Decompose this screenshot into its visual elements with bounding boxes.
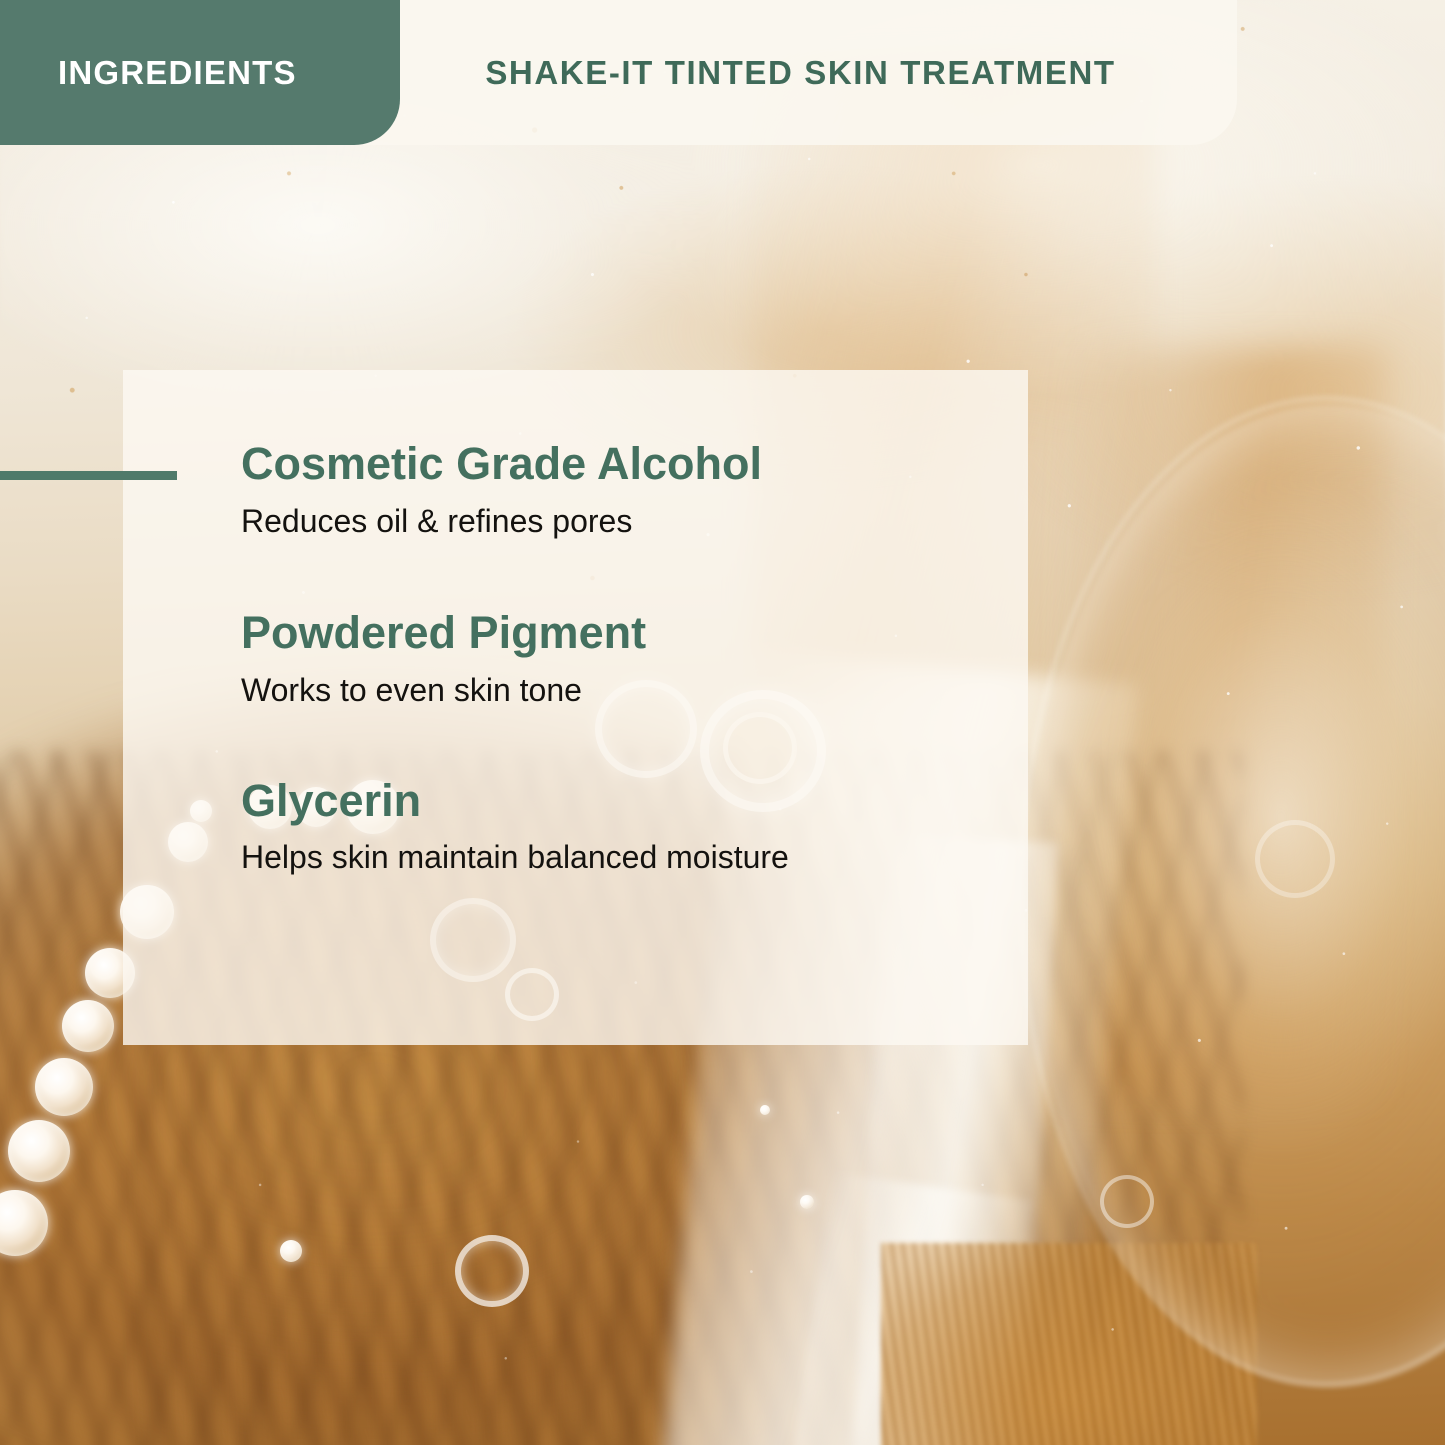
ingredient-name: Cosmetic Grade Alcohol	[241, 440, 941, 489]
header-ingredients-tab: INGREDIENTS	[0, 0, 400, 145]
header-tab-label: INGREDIENTS	[0, 54, 297, 92]
ingredient-benefit: Works to even skin tone	[241, 672, 941, 709]
header-bar: INGREDIENTS SHAKE-IT TINTED SKIN TREATME…	[0, 0, 1237, 145]
ingredient-name: Glycerin	[241, 777, 941, 826]
list-spacer	[241, 539, 941, 609]
header-product-title: SHAKE-IT TINTED SKIN TREATMENT	[400, 0, 1237, 145]
ingredients-list: Cosmetic Grade Alcohol Reduces oil & ref…	[241, 440, 941, 876]
ingredient-item-3: Glycerin Helps skin maintain balanced mo…	[241, 777, 941, 876]
product-ingredients-graphic: INGREDIENTS SHAKE-IT TINTED SKIN TREATME…	[0, 0, 1445, 1445]
list-spacer	[241, 709, 941, 777]
accent-rule	[0, 471, 177, 480]
ingredient-item-1: Cosmetic Grade Alcohol Reduces oil & ref…	[241, 440, 941, 539]
ingredient-benefit: Reduces oil & refines pores	[241, 503, 941, 540]
ingredient-benefit: Helps skin maintain balanced moisture	[241, 839, 941, 876]
ingredient-item-2: Powdered Pigment Works to even skin tone	[241, 609, 941, 708]
ingredient-name: Powdered Pigment	[241, 609, 941, 658]
header-product-title-text: SHAKE-IT TINTED SKIN TREATMENT	[485, 54, 1151, 92]
